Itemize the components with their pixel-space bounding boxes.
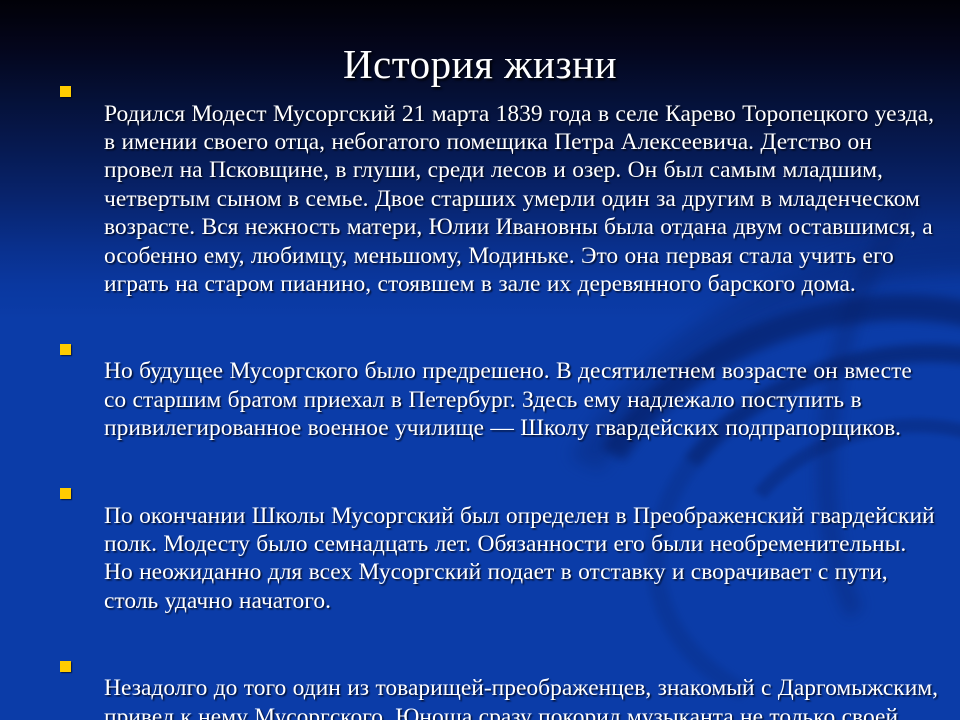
square-bullet-icon <box>60 661 71 672</box>
bullet-item-text: По окончании Школы Мусоргский был опреде… <box>104 502 940 616</box>
square-bullet-icon <box>60 488 71 499</box>
bullet-item: Родился Модест Мусоргский 21 марта 1839 … <box>60 76 940 322</box>
bullet-item-text: Родился Модест Мусоргский 21 марта 1839 … <box>104 100 940 299</box>
square-bullet-icon <box>60 86 71 97</box>
presentation-slide: История жизни Родился Модест Мусоргский … <box>0 0 960 720</box>
bullet-item-text: Но будущее Мусоргского было предрешено. … <box>104 357 940 442</box>
bullet-item: Незадолго до того один из товарищей-прео… <box>60 651 940 720</box>
bullet-item-text: Незадолго до того один из товарищей-прео… <box>104 674 940 720</box>
bullet-item: Но будущее Мусоргского было предрешено. … <box>60 334 940 466</box>
slide-body-bullet-list: Родился Модест Мусоргский 21 марта 1839 … <box>60 76 940 720</box>
bullet-item: По окончании Школы Мусоргский был опреде… <box>60 478 940 639</box>
square-bullet-icon <box>60 344 71 355</box>
